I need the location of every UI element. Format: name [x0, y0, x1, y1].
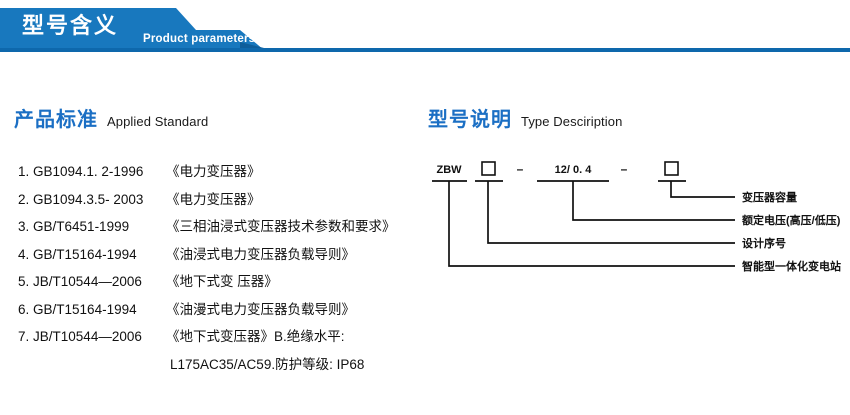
callout-label-substation: 智能型一体化变电站 [742, 259, 841, 273]
banner-baseline-rule [0, 48, 850, 52]
standard-title: 《地下式变 压器》 [166, 274, 278, 289]
page-header-banner: 型号含义 Product parameters [0, 0, 850, 56]
standard-code: 7. JB/T10544—2006 [18, 323, 166, 351]
list-item: 7. JB/T10544—2006《地下式变压器》B.绝缘水平: [18, 323, 428, 351]
section-heading-en: Applied Standard [107, 114, 208, 129]
standard-title: 《三相油浸式变压器技术参数和要求》 [166, 219, 396, 234]
leader-line-design [488, 181, 735, 243]
section-heading-cn: 型号说明 [428, 109, 512, 131]
standard-title: 《油漫式电力变压器负载导则》 [166, 302, 355, 317]
callout-label-capacity: 变压器容量 [742, 190, 797, 204]
standard-number: GB/T6451-1999 [33, 219, 129, 234]
standard-index: 4. [18, 247, 29, 262]
list-item: 6. GB/T15164-1994《油漫式电力变压器负载导则》 [18, 296, 428, 324]
applied-standards-list: 1. GB1094.1. 2-1996《电力变压器》 2. GB1094.3.5… [18, 158, 428, 378]
standard-index: 2. [18, 192, 29, 207]
leader-line-model [449, 181, 735, 266]
list-item: 5. JB/T10544—2006《地下式变 压器》 [18, 268, 428, 296]
standard-index: 6. [18, 302, 29, 317]
standard-continuation-line: L175AC35/AC59.防护等级: IP68 [18, 351, 428, 379]
type-code-diagram-svg: ZBW – 12/ 0. 4 – 变压器容量 额定电压(高压/低压) 设计序号 … [420, 150, 850, 285]
standard-number: GB1094.1. 2-1996 [33, 164, 143, 179]
standard-index: 7. [18, 329, 29, 344]
standard-index: 3. [18, 219, 29, 234]
code-segment-box-design [482, 162, 495, 175]
standard-number: GB/T15164-1994 [33, 302, 137, 317]
code-segment-box-capacity [665, 162, 678, 175]
standard-title: 《地下式变压器》B.绝缘水平: [166, 329, 345, 344]
type-code-diagram: ZBW – 12/ 0. 4 – 变压器容量 额定电压(高压/低压) 设计序号 … [420, 150, 850, 285]
standard-title: 《电力变压器》 [166, 164, 261, 179]
standard-code: 4. GB/T15164-1994 [18, 241, 166, 269]
banner-subtitle: Product parameters [143, 33, 255, 45]
callout-label-design-serial: 设计序号 [742, 236, 786, 250]
section-heading-applied-standard: 产品标准Applied Standard [14, 103, 208, 132]
leader-line-voltage [573, 181, 735, 220]
code-segment-voltage: 12/ 0. 4 [555, 164, 593, 176]
code-segment-model: ZBW [436, 164, 462, 176]
standard-index: 1. [18, 164, 29, 179]
standard-number: JB/T10544—2006 [33, 329, 142, 344]
standard-code: 6. GB/T15164-1994 [18, 296, 166, 324]
list-item: 2. GB1094.3.5- 2003《电力变压器》 [18, 186, 428, 214]
standard-index: 5. [18, 274, 29, 289]
standard-title: 《电力变压器》 [166, 192, 261, 207]
standard-number: JB/T10544—2006 [33, 274, 142, 289]
callout-label-rated-voltage: 额定电压(高压/低压) [742, 213, 841, 227]
banner-title: 型号含义 [22, 12, 118, 40]
section-heading-type-description: 型号说明Type Desciription [428, 103, 622, 132]
list-item: 4. GB/T15164-1994《油浸式电力变压器负载导则》 [18, 241, 428, 269]
standard-code: 2. GB1094.3.5- 2003 [18, 186, 166, 214]
standard-number: GB1094.3.5- 2003 [33, 192, 143, 207]
list-item: 1. GB1094.1. 2-1996《电力变压器》 [18, 158, 428, 186]
banner-shape [0, 0, 850, 56]
code-separator-dash-1: – [517, 162, 524, 176]
standard-code: 1. GB1094.1. 2-1996 [18, 158, 166, 186]
standard-title: 《油浸式电力变压器负载导则》 [166, 247, 355, 262]
section-heading-en: Type Desciription [521, 114, 622, 129]
leader-line-capacity [671, 181, 735, 197]
section-heading-cn: 产品标准 [14, 109, 98, 131]
list-item: 3. GB/T6451-1999《三相油浸式变压器技术参数和要求》 [18, 213, 428, 241]
code-separator-dash-2: – [621, 162, 628, 176]
standard-code: 3. GB/T6451-1999 [18, 213, 166, 241]
standard-number: GB/T15164-1994 [33, 247, 137, 262]
standard-code: 5. JB/T10544—2006 [18, 268, 166, 296]
